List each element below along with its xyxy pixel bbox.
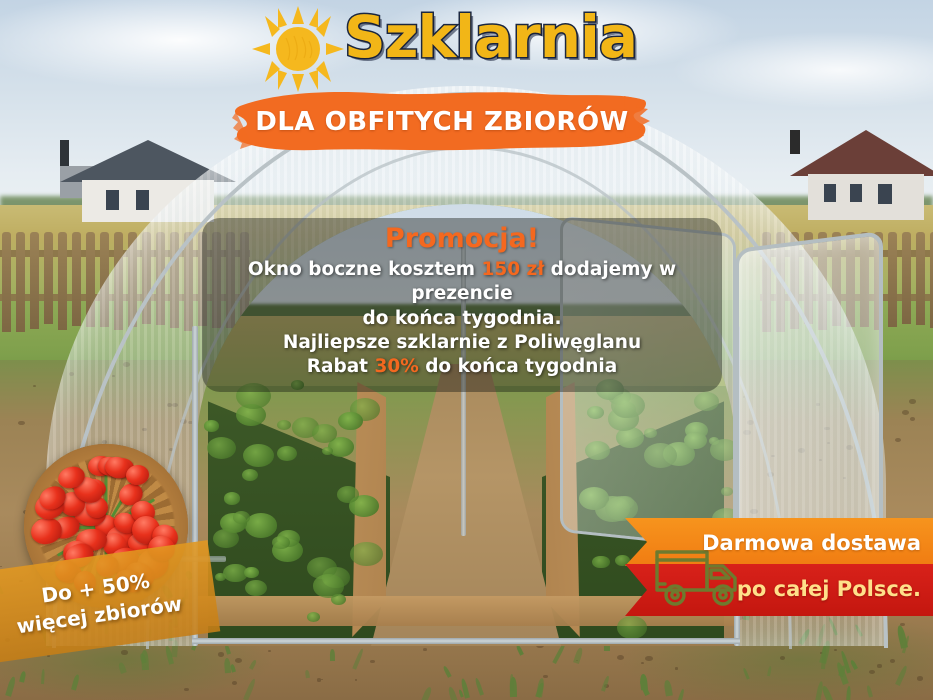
sun-icon <box>252 6 344 92</box>
promo-line-0-before: Okno boczne kosztem <box>248 259 482 280</box>
promo-line-3-before: Rabat <box>307 356 375 377</box>
delivery-line-1: Darmowa dostawa <box>625 524 921 562</box>
delivery-banner: Darmowa dostawa po całej Polsce. <box>625 518 933 616</box>
promo-line-3: Rabat 30% do końca tygodnia <box>202 355 722 379</box>
brush-banner-text: DLA OBFITYCH ZBIORÓW <box>232 100 652 144</box>
promo-panel: Promocja! Okno boczne kosztem 150 zł dod… <box>202 218 722 392</box>
promo-line-1-before: do końca tygodnia. <box>362 308 561 329</box>
promo-line-3-after: do końca tygodnia <box>419 356 618 377</box>
promo-line-1: do końca tygodnia. <box>202 307 722 331</box>
delivery-line-2: po całej Polsce. <box>625 570 921 608</box>
promo-poster: Szklarnia DLA OBFITYCH ZBIORÓW Promocja!… <box>0 0 933 700</box>
promo-heading: Promocja! <box>385 224 539 254</box>
promo-line-2-before: Najliepsze szklarnie z Poliwęglanu <box>283 332 641 353</box>
promo-line-0-highlight: 150 zł <box>482 259 545 280</box>
promo-line-0: Okno boczne kosztem 150 zł dodajemy w pr… <box>202 258 722 307</box>
promo-line-3-highlight: 30% <box>374 356 418 377</box>
promo-line-2: Najliepsze szklarnie z Poliwęglanu <box>202 331 722 355</box>
page-title: Szklarnia <box>344 8 637 66</box>
